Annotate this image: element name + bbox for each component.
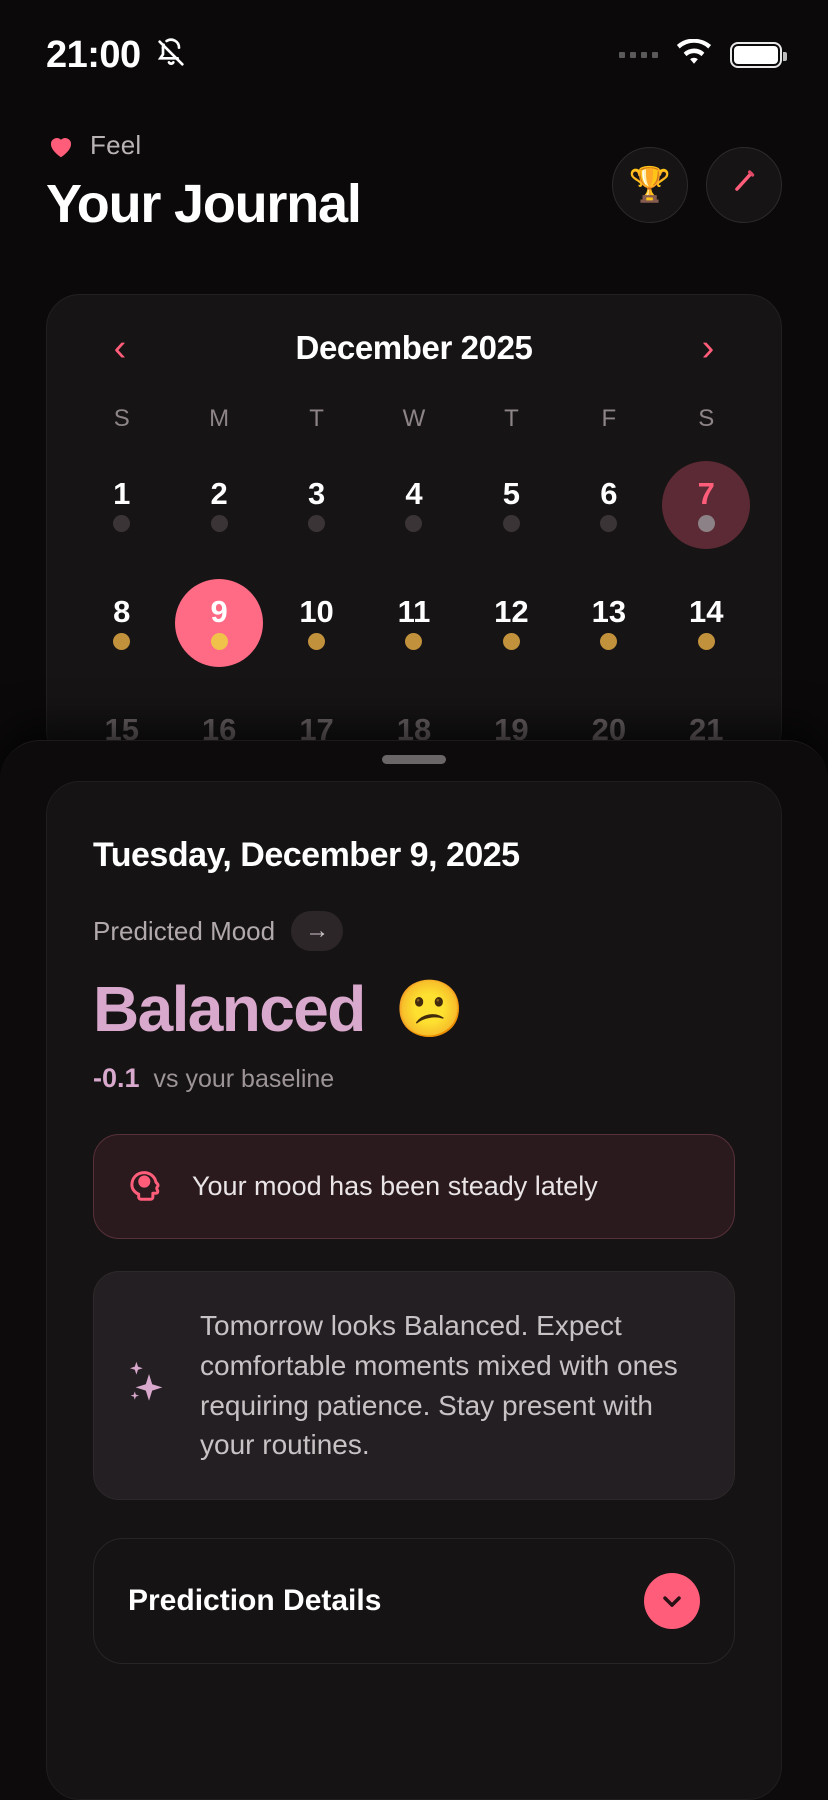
heart-icon (46, 131, 76, 161)
day-mood-dot (405, 515, 422, 532)
weekday-label: W (365, 405, 462, 433)
next-month-button[interactable]: › (683, 329, 733, 367)
status-time: 21:00 (46, 34, 141, 77)
calendar-day[interactable]: 10 (268, 577, 365, 669)
status-bar: 21:00 (0, 0, 828, 110)
calendar-card: ‹ December 2025 › S M T W T F S 1 2 3 4 … (46, 294, 782, 764)
day-number: 8 (113, 596, 130, 627)
page-header: Feel Your Journal 🏆 (0, 130, 828, 235)
prediction-details-title: Prediction Details (128, 1584, 381, 1618)
day-mood-dot (308, 515, 325, 532)
baseline-row: -0.1 vs your baseline (93, 1063, 735, 1094)
battery-full-icon (730, 42, 782, 68)
calendar-day[interactable]: 8 (73, 577, 170, 669)
day-mood-dot (698, 515, 715, 532)
day-detail-card: Tuesday, December 9, 2025 Predicted Mood… (46, 781, 782, 1800)
day-mood-dot (600, 633, 617, 650)
day-number: 3 (308, 478, 325, 509)
edit-button[interactable] (706, 147, 782, 223)
mood-name: Balanced (93, 977, 365, 1041)
calendar-day[interactable]: 13 (560, 577, 657, 669)
mood-insight-card[interactable]: Your mood has been steady lately (93, 1134, 735, 1239)
day-number: 4 (405, 478, 422, 509)
calendar-weekday-row: S M T W T F S (73, 405, 755, 433)
title-row: Your Journal 🏆 (46, 173, 782, 235)
pencil-icon (727, 165, 761, 205)
signal-dots-icon (619, 52, 658, 58)
day-mood-dot (503, 633, 520, 650)
calendar-day[interactable]: 1 (73, 459, 170, 551)
page-title: Your Journal (46, 173, 361, 235)
trophy-icon: 🏆 (629, 168, 671, 202)
calendar-day[interactable]: 4 (365, 459, 462, 551)
day-mood-dot (503, 515, 520, 532)
day-number: 9 (211, 596, 228, 627)
calendar-header: ‹ December 2025 › (73, 329, 755, 367)
day-mood-dot (308, 633, 325, 650)
app-screen: 21:00 (0, 0, 828, 1800)
calendar-week-row: 1 2 3 4 5 6 7 (73, 459, 755, 551)
day-mood-dot (698, 633, 715, 650)
ai-forecast-card[interactable]: Tomorrow looks Balanced. Expect comforta… (93, 1271, 735, 1500)
brain-head-icon (124, 1163, 166, 1210)
day-number: 6 (600, 478, 617, 509)
arrow-right-icon[interactable]: → (291, 911, 343, 951)
baseline-delta: -0.1 (93, 1063, 140, 1094)
weekday-label: T (463, 405, 560, 433)
weekday-label: T (268, 405, 365, 433)
day-number: 13 (592, 596, 626, 627)
chevron-down-icon[interactable] (644, 1573, 700, 1629)
weekday-label: S (73, 405, 170, 433)
trophy-button[interactable]: 🏆 (612, 147, 688, 223)
calendar-day[interactable]: 14 (658, 577, 755, 669)
day-mood-dot (113, 633, 130, 650)
calendar-day-today[interactable]: 7 (658, 459, 755, 551)
day-mood-dot (211, 633, 228, 650)
calendar-day[interactable]: 5 (463, 459, 560, 551)
detail-bottom-sheet: Tuesday, December 9, 2025 Predicted Mood… (0, 740, 828, 1800)
wifi-icon (676, 39, 712, 72)
day-mood-dot (405, 633, 422, 650)
day-mood-dot (113, 515, 130, 532)
prediction-details-row[interactable]: Prediction Details (93, 1538, 735, 1664)
status-bar-left: 21:00 (46, 34, 187, 77)
detail-date: Tuesday, December 9, 2025 (93, 836, 735, 875)
status-bar-right (619, 39, 782, 72)
predicted-mood-row[interactable]: Predicted Mood → (93, 911, 735, 951)
predicted-mood-label: Predicted Mood (93, 916, 275, 947)
insight-text: Your mood has been steady lately (192, 1171, 598, 1202)
header-actions: 🏆 (612, 147, 782, 223)
ai-forecast-text: Tomorrow looks Balanced. Expect comforta… (200, 1306, 700, 1465)
confused-face-icon: 😕 (395, 981, 465, 1037)
sparkle-icon (122, 1353, 174, 1418)
day-number: 1 (113, 478, 130, 509)
calendar-day[interactable]: 3 (268, 459, 365, 551)
day-number: 5 (503, 478, 520, 509)
weekday-label: M (170, 405, 267, 433)
calendar-week-row: 8 9 10 11 12 13 14 (73, 577, 755, 669)
day-number: 12 (494, 596, 528, 627)
day-number: 2 (211, 478, 228, 509)
prev-month-button[interactable]: ‹ (95, 329, 145, 367)
day-number: 7 (698, 478, 715, 509)
sheet-drag-handle[interactable] (382, 755, 446, 764)
calendar-day[interactable]: 2 (170, 459, 267, 551)
weekday-label: S (658, 405, 755, 433)
day-number: 14 (689, 596, 723, 627)
baseline-text: vs your baseline (154, 1065, 335, 1094)
calendar-day[interactable]: 6 (560, 459, 657, 551)
bell-slash-icon (155, 37, 187, 74)
mood-row: Balanced 😕 (93, 977, 735, 1041)
calendar-day-selected[interactable]: 9 (170, 577, 267, 669)
calendar-day[interactable]: 12 (463, 577, 560, 669)
brand-name: Feel (90, 130, 141, 161)
day-number: 11 (398, 596, 431, 627)
day-mood-dot (600, 515, 617, 532)
day-mood-dot (211, 515, 228, 532)
calendar-month-label: December 2025 (296, 329, 533, 367)
calendar-day[interactable]: 11 (365, 577, 462, 669)
day-number: 10 (299, 596, 333, 627)
weekday-label: F (560, 405, 657, 433)
